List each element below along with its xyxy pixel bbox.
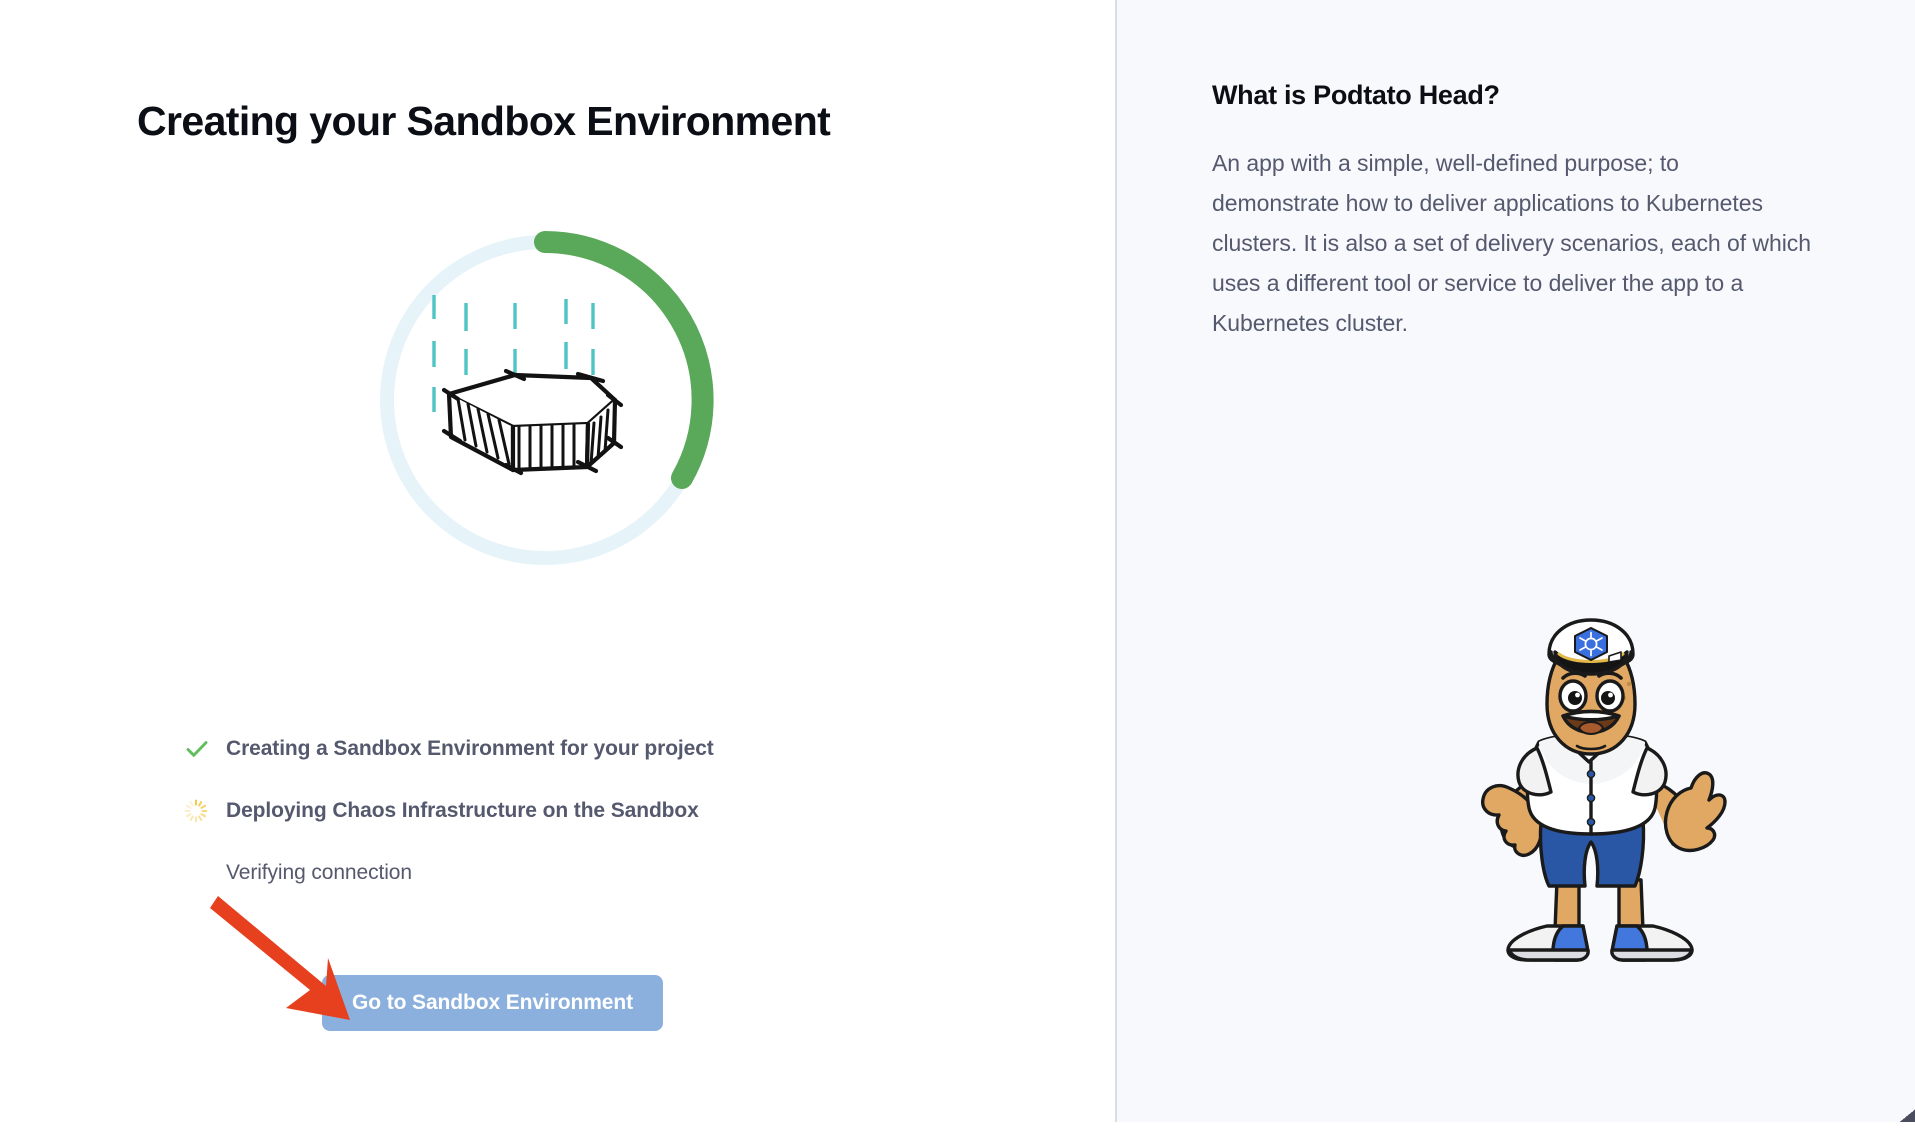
provisioning-step-list: Creating a Sandbox Environment for your …: [184, 718, 964, 904]
step-row: Creating a Sandbox Environment for your …: [184, 718, 964, 780]
step-icon-placeholder: [184, 858, 226, 888]
info-panel-title: What is Podtato Head?: [1212, 80, 1500, 111]
step-label: Creating a Sandbox Environment for your …: [226, 737, 714, 761]
info-panel-body: An app with a simple, well-defined purpo…: [1212, 143, 1812, 343]
step-row: Deploying Chaos Infrastructure on the Sa…: [184, 780, 964, 842]
step-label: Deploying Chaos Infrastructure on the Sa…: [226, 799, 699, 823]
go-to-sandbox-environment-button[interactable]: Go to Sandbox Environment: [322, 975, 663, 1031]
page-title: Creating your Sandbox Environment: [137, 96, 830, 146]
spinner-icon: [184, 796, 226, 826]
cta-container: Go to Sandbox Environment: [322, 975, 663, 1031]
sandbox-provisioning-page: Creating your Sandbox Environment: [0, 0, 1915, 1131]
corner-artifact: [1899, 1109, 1915, 1122]
step-row: Verifying connection: [184, 842, 964, 904]
left-panel: Creating your Sandbox Environment: [0, 0, 1115, 1131]
info-panel: What is Podtato Head? An app with a simp…: [1115, 0, 1915, 1122]
step-label: Verifying connection: [226, 861, 412, 885]
provisioning-progress-loader: [370, 225, 720, 575]
check-icon: [184, 734, 226, 764]
podtato-head-mascot-icon: [1451, 612, 1731, 974]
sandbox-illustration-icon: [418, 279, 672, 521]
